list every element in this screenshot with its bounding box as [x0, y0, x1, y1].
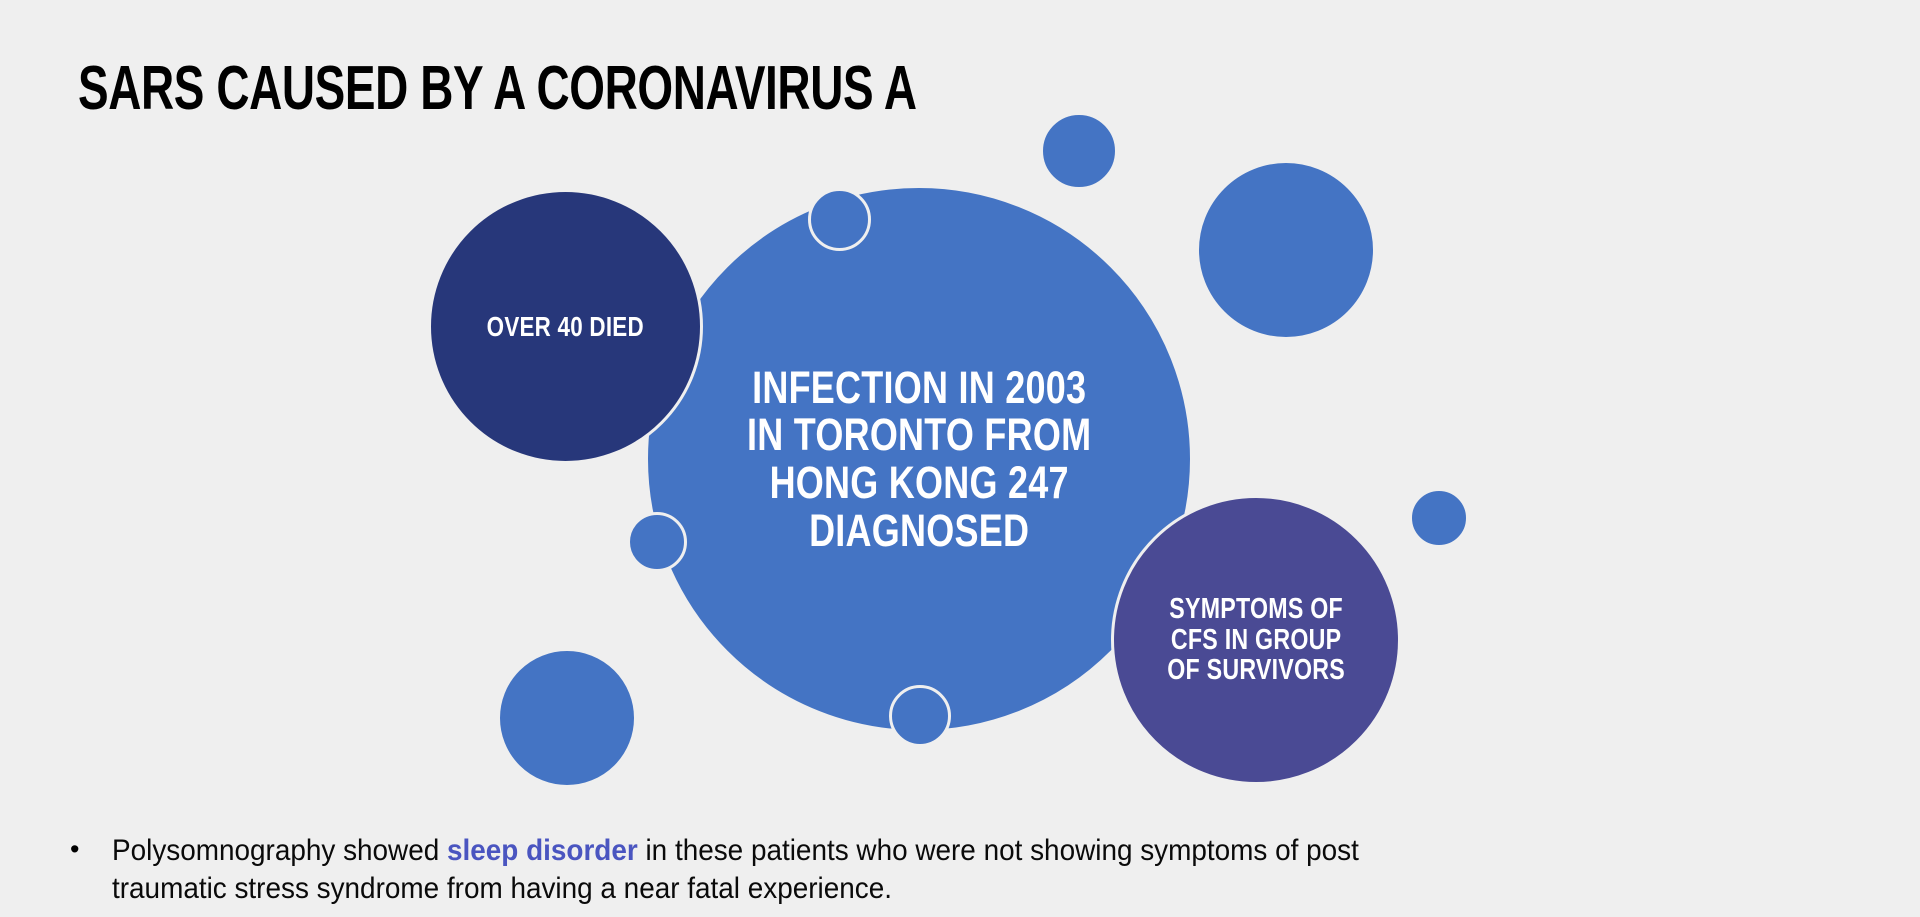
bullet-line2: traumatic stress syndrome from having a …	[112, 870, 1738, 908]
accent-bubble-top-small	[1040, 112, 1118, 190]
accent-bubble-right-small	[1409, 488, 1469, 548]
accent-bubble-top-large	[1196, 160, 1376, 340]
bubble-navy-label: OVER 40 DIED	[487, 312, 644, 342]
bubble-main-label: INFECTION IN 2003 IN TORONTO FROM HONG K…	[747, 364, 1091, 555]
bubble-purple-label: SYMPTOMS OF CFS IN GROUP OF SURVIVORS	[1167, 594, 1345, 686]
bubble-diagram: INFECTION IN 2003 IN TORONTO FROM HONG K…	[0, 60, 1920, 800]
bullet-part2: in these patients who were not showing s…	[638, 834, 1359, 867]
bullet-part1: Polysomnography showed	[112, 834, 447, 867]
bubble-navy[interactable]: OVER 40 DIED	[428, 189, 703, 464]
bubble-purple[interactable]: SYMPTOMS OF CFS IN GROUP OF SURVIVORS	[1111, 495, 1401, 785]
bullet-marker-icon: •	[70, 832, 112, 866]
accent-bubble-bottom-left	[497, 648, 637, 788]
bullet-highlight: sleep disorder	[447, 834, 638, 867]
bullet-list: • Polysomnography showed sleep disorder …	[70, 832, 1860, 908]
bullet-text: Polysomnography showed sleep disorder in…	[112, 832, 1738, 908]
slide-canvas: SARS CAUSED BY A CORONAVIRUS A INFECTION…	[0, 0, 1920, 917]
accent-bubble-left-small	[627, 512, 687, 572]
accent-bubble-edge-top	[808, 188, 871, 251]
accent-bubble-bottom-mid	[889, 685, 951, 747]
